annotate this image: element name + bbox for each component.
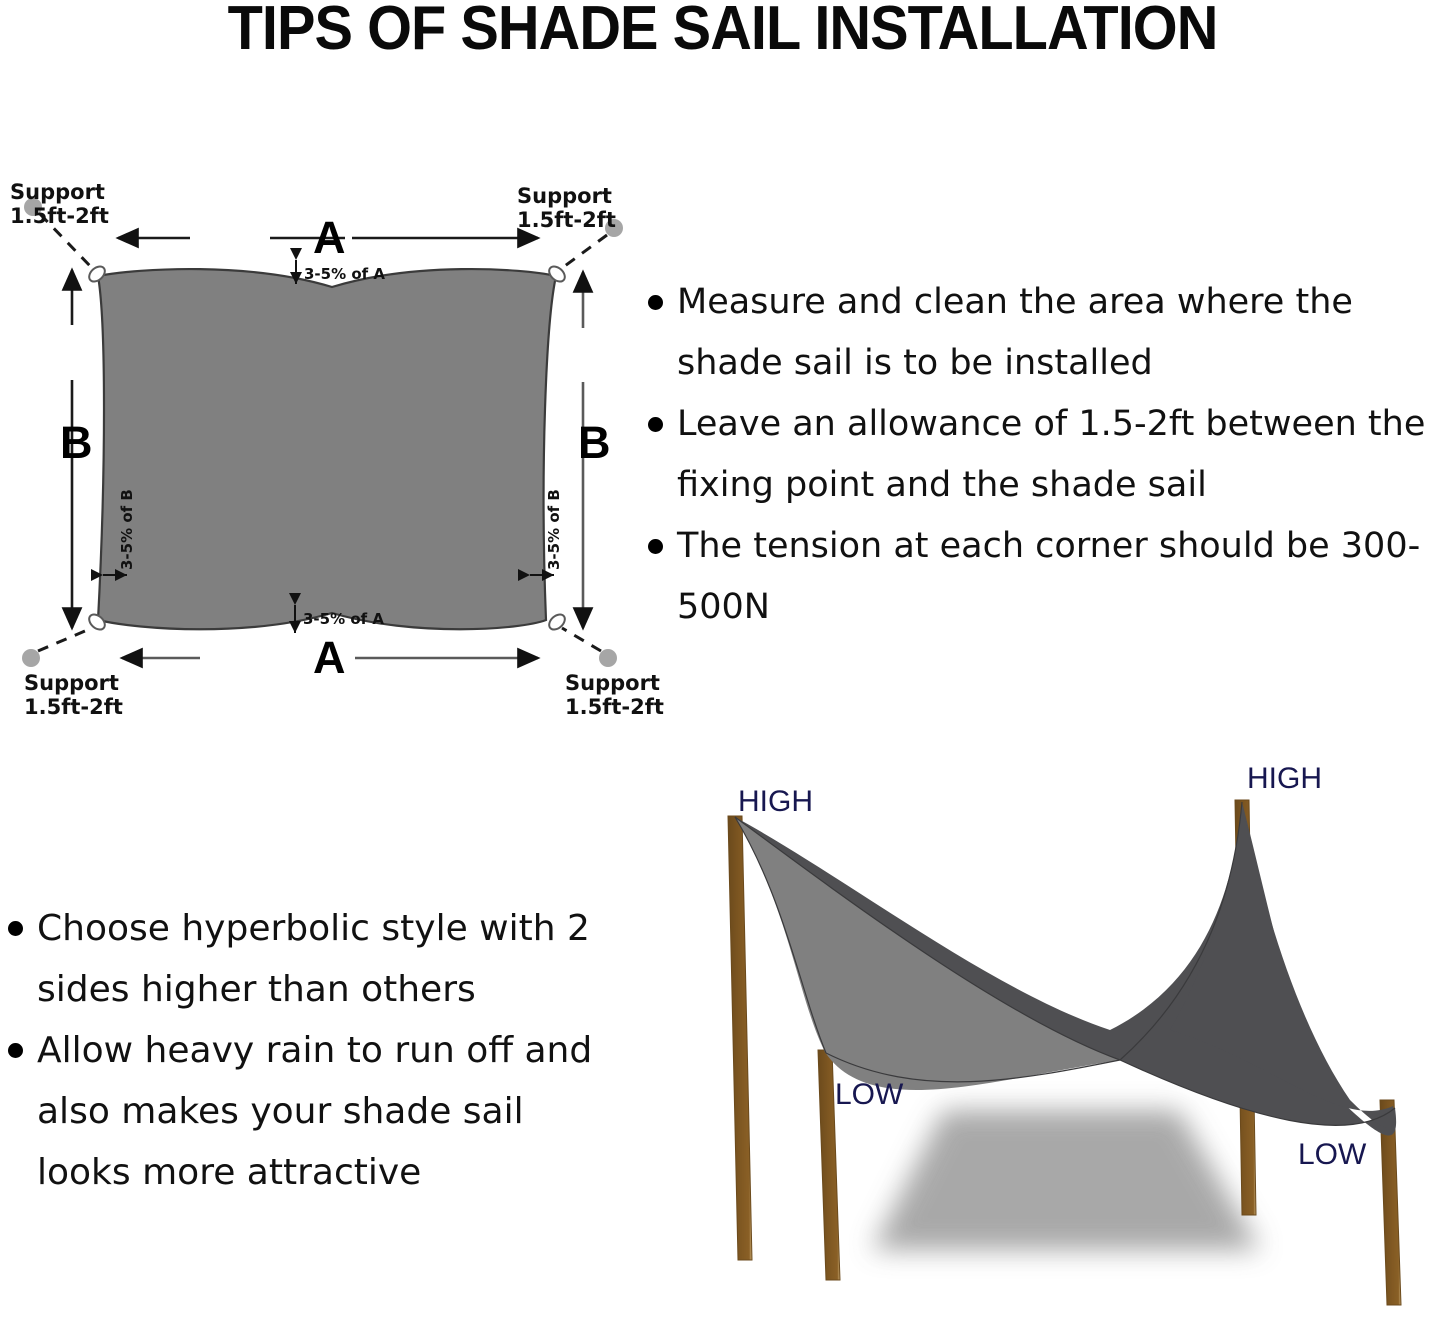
support-label-line1: Support: [517, 184, 616, 208]
bullet-icon: [648, 539, 663, 554]
hyperbolic-sail-svg: [690, 760, 1445, 1319]
support-label-bottom-left: Support 1.5ft-2ft: [24, 671, 123, 719]
support-label-line1: Support: [10, 180, 109, 204]
support-label-bottom-right: Support 1.5ft-2ft: [565, 671, 664, 719]
label-high-left: HIGH: [738, 785, 813, 819]
curve-label-right: 3-5% of B: [545, 489, 563, 570]
dimension-letter-left-B: B: [60, 420, 93, 465]
list-item: Measure and clean the area where the sha…: [648, 272, 1445, 394]
support-label-line1: Support: [565, 671, 664, 695]
dimension-letter-top-A: A: [313, 215, 346, 260]
support-label-line2: 1.5ft-2ft: [517, 208, 616, 232]
bullet-icon: [8, 1043, 23, 1058]
label-high-right: HIGH: [1247, 762, 1322, 796]
curve-label-bottom: 3-5% of A: [303, 610, 384, 628]
list-item: Choose hyperbolic style with 2 sides hig…: [8, 898, 618, 1020]
tip-text: Choose hyperbolic style with 2 sides hig…: [37, 898, 618, 1020]
tip-text: The tension at each corner should be 300…: [677, 516, 1445, 638]
label-low-left: LOW: [835, 1078, 903, 1112]
bullet-icon: [648, 417, 663, 432]
curve-label-left: 3-5% of B: [118, 489, 136, 570]
list-item: The tension at each corner should be 300…: [648, 516, 1445, 638]
hyperbolic-sail-scene: HIGH HIGH LOW LOW: [690, 760, 1445, 1319]
curve-label-top: 3-5% of A: [304, 265, 385, 283]
ground-shadow: [872, 1110, 1260, 1250]
support-label-top-left: Support 1.5ft-2ft: [10, 180, 109, 228]
installation-tips-list: Measure and clean the area where the sha…: [648, 272, 1445, 638]
tip-text: Measure and clean the area where the sha…: [677, 272, 1445, 394]
list-item: Allow heavy rain to run off and also mak…: [8, 1020, 618, 1203]
support-label-top-right: Support 1.5ft-2ft: [517, 184, 616, 232]
list-item: Leave an allowance of 1.5-2ft between th…: [648, 394, 1445, 516]
support-label-line1: Support: [24, 671, 123, 695]
support-label-line2: 1.5ft-2ft: [24, 695, 123, 719]
dimension-letter-right-B: B: [578, 420, 611, 465]
support-label-line2: 1.5ft-2ft: [10, 204, 109, 228]
bullet-icon: [648, 295, 663, 310]
page-title: TIPS OF SHADE SAIL INSTALLATION: [51, 0, 1395, 64]
label-low-right: LOW: [1298, 1138, 1366, 1172]
rectangular-sail-diagram: Support 1.5ft-2ft Support 1.5ft-2ft Supp…: [0, 150, 660, 750]
dimension-letter-bottom-A: A: [313, 635, 346, 680]
tip-text: Leave an allowance of 1.5-2ft between th…: [677, 394, 1445, 516]
sail-body: [98, 269, 556, 629]
post-high-left: [728, 816, 752, 1260]
tip-text: Allow heavy rain to run off and also mak…: [37, 1020, 618, 1203]
support-label-line2: 1.5ft-2ft: [565, 695, 664, 719]
hyperbolic-tips-list: Choose hyperbolic style with 2 sides hig…: [8, 898, 618, 1203]
bullet-icon: [8, 921, 23, 936]
